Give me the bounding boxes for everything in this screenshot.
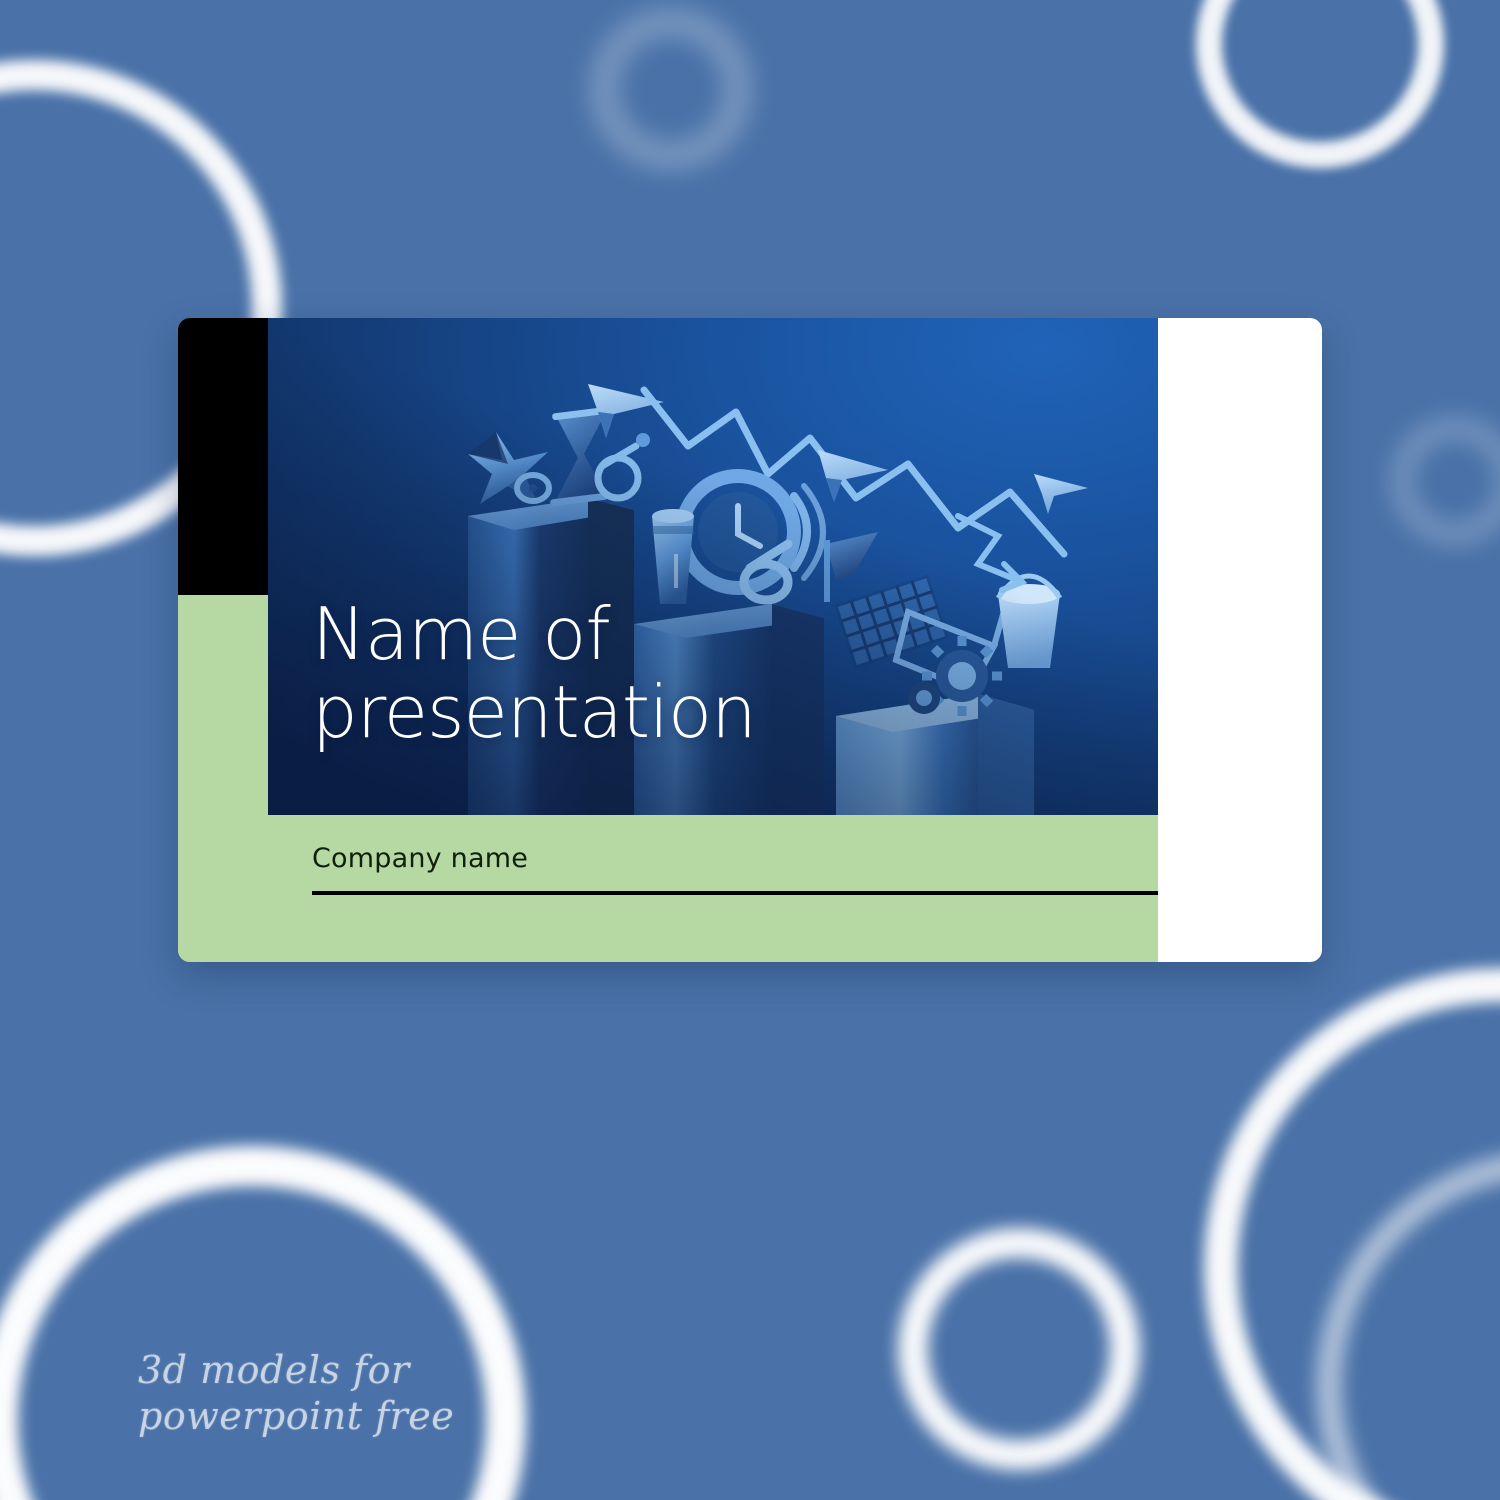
slide-preview-card[interactable]: Name of presentation Company name bbox=[178, 318, 1322, 962]
ring-top-middle-icon bbox=[592, 10, 750, 168]
ring-bottom-right-large-icon bbox=[1204, 968, 1500, 1500]
watermark-caption: 3d models for powerpoint free bbox=[138, 1348, 558, 1439]
slide-artboard: Name of presentation Company name bbox=[178, 318, 1158, 962]
ring-bottom-middle-icon bbox=[898, 1228, 1140, 1470]
ring-top-right-icon bbox=[1196, 0, 1444, 168]
screenshot-canvas: 3d models for powerpoint free bbox=[0, 0, 1500, 1500]
ring-far-right-icon bbox=[1316, 1150, 1500, 1500]
slide-company-name: Company name bbox=[312, 843, 528, 874]
slide-black-band bbox=[178, 318, 268, 595]
slide-green-band bbox=[178, 815, 1158, 962]
slide-title: Name of presentation bbox=[312, 596, 1072, 752]
slide-divider-rule bbox=[312, 891, 1158, 895]
ring-bottom-left-large-icon bbox=[0, 1146, 526, 1500]
slide-green-left-band bbox=[178, 595, 268, 815]
ring-middle-right-icon bbox=[1392, 418, 1500, 544]
